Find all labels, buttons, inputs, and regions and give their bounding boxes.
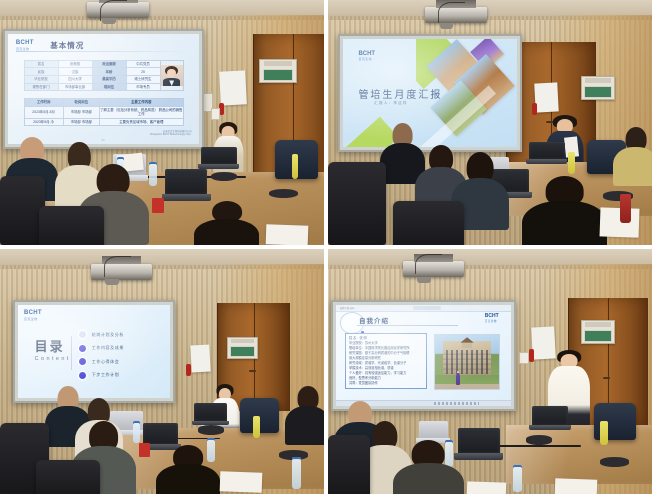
toc-item: 下步工作计划: [79, 372, 158, 379]
projector-cables: [104, 256, 131, 277]
ppt-toolbar-pill[interactable]: [413, 306, 441, 310]
water-bottle[interactable]: [149, 162, 157, 187]
flipchart: [219, 70, 247, 106]
profile-line: 研究课题：基于高分辨质谱的中分子气相联: [349, 351, 423, 355]
audience-member: [285, 386, 324, 445]
profile-photo-cell: [160, 60, 183, 91]
projection-screen: BCHT 百克生物 基本情况 姓名 张美丽 政治面貌 中共党员: [3, 29, 204, 149]
water-bottle[interactable]: [292, 457, 302, 489]
profile-line: 掌握技术：高效液相色谱、质谱: [349, 366, 423, 370]
cell: 25: [126, 68, 160, 76]
slide-logo: BCHT 百克生物: [16, 40, 34, 51]
cell: 最高学历: [92, 75, 126, 83]
cell: 市场部 市场部: [63, 118, 99, 126]
door-notice-sign: [227, 337, 258, 359]
fire-extinguisher: [529, 349, 534, 361]
collage-panel-top-left: BCHT 百克生物 基本情况 姓名 张美丽 政治面貌 中共党员: [0, 0, 324, 245]
cell: 年龄: [92, 68, 126, 76]
chair[interactable]: [36, 460, 101, 494]
slide-logo: BCHT 百克生物: [24, 310, 42, 321]
laptop[interactable]: [201, 147, 237, 169]
projection-screen: BCHT 百克生物 目录 Content 轮岗计划及分析: [13, 300, 175, 403]
collage-panel-top-right: BCHT 百克生物 管培生月度汇报 汇报人：李这样: [328, 0, 652, 245]
slide-logo: BCHT 百克生物: [485, 314, 499, 323]
door-handle[interactable]: [249, 370, 255, 372]
toc-item: 工作心得体会: [79, 358, 158, 365]
profile-line: 共同：党员团队协作: [349, 381, 423, 385]
toc-item-label: 轮岗计划及分析: [92, 332, 124, 338]
door-handle[interactable]: [603, 377, 610, 379]
door-notice-sign: [581, 76, 615, 100]
audience-member: [194, 201, 259, 245]
red-cup[interactable]: [139, 443, 150, 458]
chair[interactable]: [39, 206, 104, 245]
cell: 张美丽: [58, 60, 92, 68]
fire-extinguisher: [186, 364, 191, 376]
slide-cover: BCHT 百克生物 管培生月度汇报 汇报人：李这样: [343, 39, 518, 147]
ppt-tab-label[interactable]: 自我介绍.pptx: [340, 306, 355, 310]
conference-microphone[interactable]: [600, 457, 629, 467]
logo-text: BCHT: [24, 310, 42, 316]
cell: 主要负责区域市场、客户管理: [99, 118, 183, 126]
handout[interactable]: [555, 479, 598, 494]
cell: 汉族: [58, 68, 92, 76]
cell: 四川大学: [58, 75, 92, 83]
water-bottle[interactable]: [292, 154, 298, 179]
logo-text: BCHT: [16, 40, 34, 46]
door-notice-sign: [259, 59, 297, 83]
toc-item-label: 工作心得体会: [92, 359, 120, 365]
water-bottle[interactable]: [600, 421, 608, 446]
cell: 市场部事业部: [58, 83, 92, 91]
projector-cables: [100, 0, 127, 21]
projection-screen: 自我介绍.pptx 自我介绍 BCHT 百克生物 姓 名：张 明 毕业院校：苏州…: [331, 300, 516, 410]
cell: 2023年5月-8月: [24, 106, 63, 118]
flipchart: [190, 344, 211, 372]
equipment-case: [211, 172, 237, 182]
chair[interactable]: [393, 201, 464, 245]
handout[interactable]: [265, 225, 308, 245]
footer-en: Changchun BCHT Biotechnology Corp.: [150, 133, 192, 136]
projector-cables: [438, 2, 465, 23]
slide-logo: BCHT 百克生物: [358, 51, 375, 61]
laptop[interactable]: [532, 406, 568, 431]
slide-title: 基本情况: [50, 40, 84, 51]
laptop[interactable]: [529, 142, 565, 164]
chair[interactable]: [328, 435, 370, 494]
water-bottle[interactable]: [513, 465, 522, 492]
title-rule: [357, 325, 458, 326]
col-header: 工作时间: [24, 99, 63, 107]
bullet-icon: [79, 345, 86, 352]
profile-line: 毕业院校：苏州大学: [349, 341, 423, 345]
path: [435, 384, 500, 389]
door-notice-sign: [581, 320, 615, 344]
toc-item: 工作内容及成果: [79, 345, 158, 352]
wall-switch-box[interactable]: [519, 352, 529, 364]
handout[interactable]: [467, 481, 506, 494]
water-bottle[interactable]: [568, 152, 575, 174]
rotation-table: 工作时间 轮岗岗位 主要工作内容 2023年5月-8月 市场部 市场部 了解主要…: [24, 98, 184, 126]
profile-textbox: 姓 名：张 明 毕业院校：苏州大学 联培单位：中国科学院长春应用化学研究所 研究…: [345, 333, 427, 389]
cell: 市场专员: [126, 83, 160, 91]
avatar: [161, 65, 183, 86]
laptop[interactable]: [194, 403, 226, 425]
toc-item-label: 下步工作计划: [92, 372, 120, 378]
slide-footer: 长春百克生物科技股份公司 Changchun BCHT Biotechnolog…: [150, 130, 192, 137]
slide-title: 自我介绍: [359, 315, 389, 325]
toc-item-label: 工作内容及成果: [92, 345, 124, 351]
cell: 民族: [24, 68, 58, 76]
logo-subtext: 百克生物: [358, 57, 375, 61]
slide-self-intro: 自我介绍.pptx 自我介绍 BCHT 百克生物 姓 名：张 明 毕业院校：苏州…: [336, 305, 511, 405]
profile-line: 联培单位：中国科学院长春应用化学研究所: [349, 346, 423, 350]
logo-subtext: 百克生物: [24, 317, 42, 321]
toc-heading-en: Content: [35, 356, 71, 362]
cell: 姓名: [24, 60, 58, 68]
thermos-bottle[interactable]: [620, 194, 631, 223]
toc-heading-zh: 目录: [35, 340, 71, 353]
cell: 现岗位: [92, 83, 126, 91]
collage-panel-bottom-left: BCHT 百克生物 目录 Content 轮岗计划及分析: [0, 249, 324, 494]
toc-item: 轮岗计划及分析: [79, 331, 158, 338]
toc-heading: 目录 Content: [35, 340, 71, 362]
equipment-case: [526, 435, 552, 445]
photo-collage: BCHT 百克生物 基本情况 姓名 张美丽 政治面貌 中共党员: [0, 0, 652, 495]
bullet-icon: [79, 372, 86, 379]
audience-member: [522, 176, 606, 245]
wall-switch-box[interactable]: [211, 108, 221, 120]
cell: 毕业院校: [24, 75, 58, 83]
audience-member: [613, 127, 652, 186]
audience-member: [156, 445, 221, 494]
toc-divider: [71, 336, 72, 369]
cell: 2023年9月-今: [24, 118, 63, 126]
collage-panel-bottom-right: 自我介绍.pptx 自我介绍 BCHT 百克生物 姓 名：张 明 毕业院校：苏州…: [328, 249, 652, 494]
logo-subtext: 百克生物: [485, 319, 499, 323]
cell: 现所在部门: [24, 83, 58, 91]
slide-toc: BCHT 百克生物 目录 Content 轮岗计划及分析: [18, 305, 170, 398]
slide-basic-info: BCHT 百克生物 基本情况 姓名 张美丽 政治面貌 中共党员: [8, 34, 199, 144]
cell: 了解主要（包括分析系统、药品风范） 药品公司的销售工作: [99, 106, 183, 118]
handout[interactable]: [220, 471, 263, 492]
profile-line: 良好，型思考分析能力: [349, 376, 423, 380]
cell: 政治面貌: [92, 60, 126, 68]
profile-line: 个人爱好：具有较强适应能力，学习能力: [349, 371, 423, 375]
slide-subtitle: 汇报人：李这样: [374, 101, 408, 106]
laptop[interactable]: [165, 169, 207, 201]
col-header: 主要工作内容: [99, 99, 183, 107]
flipchart: [535, 83, 559, 114]
title-rule: [16, 51, 192, 52]
audience-member: [393, 440, 464, 494]
profile-line: 用大规模定量分析研究: [349, 356, 423, 360]
profile-line: 研究领域：质谱学、代谢组学、色谱分子: [349, 361, 423, 365]
fire-extinguisher: [532, 103, 537, 115]
cell: 市场部 市场部: [63, 106, 99, 118]
projection-screen: BCHT 百克生物 管培生月度汇报 汇报人：李这样: [338, 34, 523, 152]
bullet-icon: [79, 358, 86, 365]
slide-title: 管培生月度汇报: [358, 86, 442, 101]
col-header: 轮岗岗位: [63, 99, 99, 107]
chair[interactable]: [328, 162, 386, 245]
toc-list: 轮岗计划及分析 工作内容及成果 工作心得体会 下步工作计划: [79, 331, 158, 385]
cell: 硕士研究生: [126, 75, 160, 83]
equipment-case: [198, 425, 224, 435]
red-cup[interactable]: [152, 198, 163, 213]
profile-table: 姓名 张美丽 政治面貌 中共党员 民族 汉: [24, 60, 184, 92]
projector-cables: [415, 254, 442, 275]
profile-line: 姓 名：张 明: [349, 336, 423, 340]
photo-person: [455, 371, 460, 385]
water-bottle[interactable]: [253, 416, 260, 438]
bullet-icon: [79, 331, 86, 338]
building: [443, 341, 491, 375]
campus-photo: [434, 334, 501, 390]
cell: 中共党员: [126, 60, 160, 68]
